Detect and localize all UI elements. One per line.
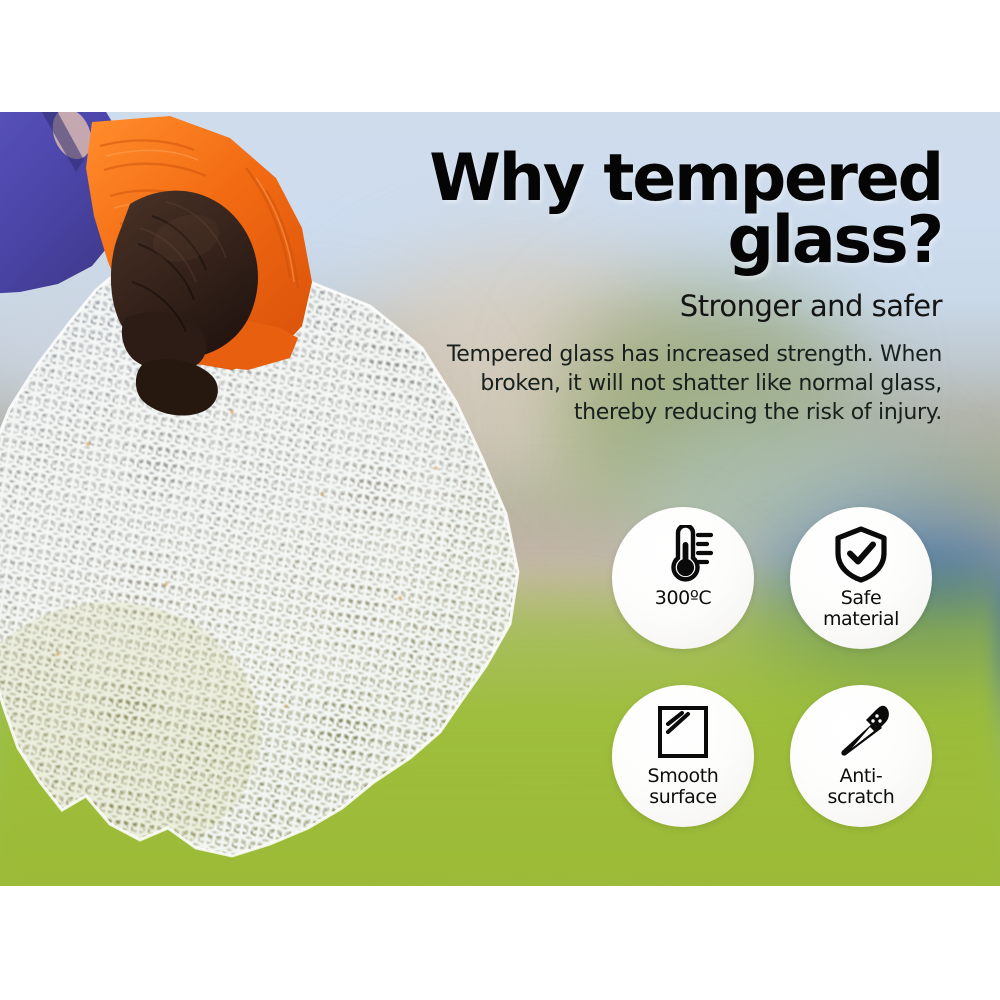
badge-label: Safe material	[823, 588, 899, 631]
feature-badge-grid: 300ºC Safe material	[612, 507, 972, 867]
headline-line-1: Why tempered	[422, 148, 942, 210]
badge-safe-material: Safe material	[790, 507, 932, 649]
page-title: Why tempered glass?	[422, 148, 942, 273]
product-feature-banner: Why tempered glass? Stronger and safer T…	[0, 0, 1000, 1000]
badge-temperature: 300ºC	[612, 507, 754, 649]
knife-icon	[830, 703, 892, 761]
photo-band: Why tempered glass? Stronger and safer T…	[0, 112, 1000, 886]
gloved-hand	[0, 112, 380, 432]
badge-anti-scratch: Anti- scratch	[790, 685, 932, 827]
badge-label: Anti- scratch	[828, 766, 895, 809]
headline-block: Why tempered glass? Stronger and safer T…	[422, 148, 942, 428]
shield-check-icon	[832, 525, 890, 583]
badge-smooth-surface: Smooth surface	[612, 685, 754, 827]
badge-label: Smooth surface	[648, 766, 719, 809]
headline-line-2: glass?	[422, 210, 942, 272]
thermometer-icon	[652, 525, 714, 583]
glass-pane-icon	[656, 703, 710, 761]
badge-label: 300ºC	[655, 588, 712, 609]
subheading: Stronger and safer	[422, 289, 942, 323]
body-copy: Tempered glass has increased strength. W…	[422, 340, 942, 428]
